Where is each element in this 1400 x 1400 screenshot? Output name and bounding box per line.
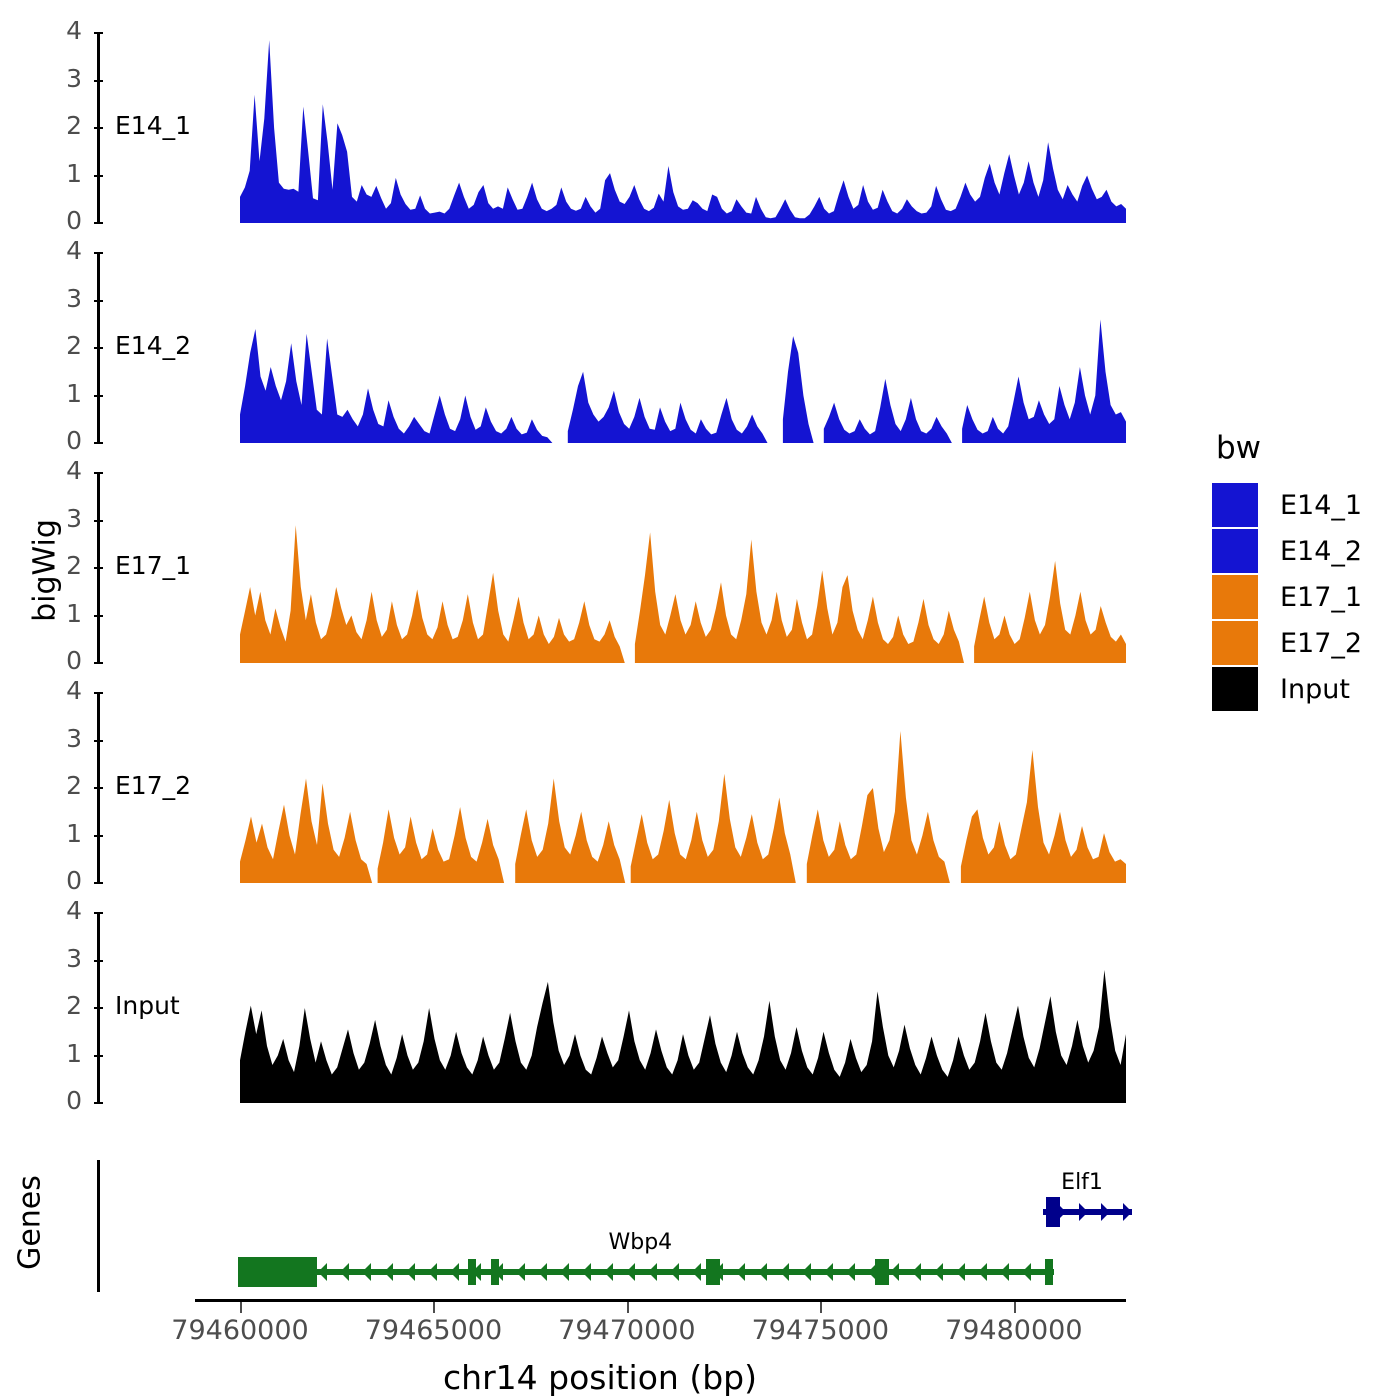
x-tick-label: 79480000 [914, 1315, 1114, 1346]
x-tick [627, 1302, 629, 1313]
track-label-e14_2: E14_2 [115, 331, 191, 360]
y-tick-label: 4 [22, 16, 82, 45]
strand-arrow-icon [824, 1263, 833, 1281]
genes-group-label: Genes [13, 1133, 48, 1313]
strand-arrow-icon [516, 1263, 525, 1281]
legend-label: E14_2 [1280, 536, 1362, 567]
gene-exon-wbp4[interactable] [238, 1257, 317, 1287]
y-tick [94, 80, 103, 82]
y-tick-label: 1 [22, 599, 82, 628]
y-tick [94, 472, 103, 474]
legend-swatch [1212, 529, 1258, 573]
y-tick [94, 347, 103, 349]
legend-swatch [1212, 483, 1258, 527]
y-tick [94, 662, 103, 664]
legend-item-e17_2[interactable]: E17_2 [1212, 620, 1362, 666]
gene-body-wbp4[interactable] [238, 1269, 1054, 1275]
y-tick [94, 1007, 103, 1009]
track-label-e17_2: E17_2 [115, 771, 191, 800]
genes-track-panel: Elf1Wbp4 [97, 1160, 1166, 1292]
track-panel-input: 01234Input [97, 913, 1166, 1103]
x-axis-title: chr14 position (bp) [0, 1358, 1200, 1397]
legend-item-e14_2[interactable]: E14_2 [1212, 528, 1362, 574]
strand-arrow-icon [1123, 1203, 1132, 1221]
track-panel-e17_1: 01234E17_1 [97, 473, 1166, 663]
strand-arrow-icon [1000, 1263, 1009, 1281]
strand-arrow-icon [626, 1263, 635, 1281]
strand-arrow-icon [934, 1263, 943, 1281]
waveform-e17_2 [240, 693, 1126, 883]
x-tick-label: 79470000 [527, 1315, 727, 1346]
y-tick [94, 300, 103, 302]
y-tick [94, 912, 103, 914]
strand-arrow-icon [1101, 1203, 1110, 1221]
strand-arrow-icon [912, 1263, 921, 1281]
y-tick-label: 2 [22, 991, 82, 1020]
y-tick [94, 175, 103, 177]
track-panel-e17_2: 01234E17_2 [97, 693, 1166, 883]
y-tick-label: 4 [22, 896, 82, 925]
y-tick [94, 32, 103, 34]
strand-arrow-icon [428, 1263, 437, 1281]
y-tick [94, 127, 103, 129]
strand-arrow-icon [758, 1263, 767, 1281]
legend-swatch [1212, 621, 1258, 665]
legend-item-e14_1[interactable]: E14_1 [1212, 482, 1362, 528]
y-tick-label: 4 [22, 456, 82, 485]
gene-label-elf1: Elf1 [1061, 1170, 1103, 1195]
waveform-e14_2 [240, 253, 1126, 443]
legend-label: E17_2 [1280, 628, 1362, 659]
y-tick [94, 740, 103, 742]
y-tick [94, 882, 103, 884]
legend-items: E14_1E14_2E17_1E17_2Input [1212, 482, 1362, 712]
x-tick [240, 1302, 242, 1313]
strand-arrow-icon [560, 1263, 569, 1281]
strand-arrow-icon [318, 1263, 327, 1281]
legend-label: E17_1 [1280, 582, 1362, 613]
track-label-e14_1: E14_1 [115, 111, 191, 140]
x-tick-label: 79475000 [720, 1315, 920, 1346]
y-tick-label: 2 [22, 551, 82, 580]
y-tick [94, 567, 103, 569]
gene-label-wbp4: Wbp4 [609, 1230, 673, 1255]
y-tick-label: 4 [22, 676, 82, 705]
strand-arrow-icon [890, 1263, 899, 1281]
y-tick [94, 395, 103, 397]
y-tick-label: 1 [22, 1039, 82, 1068]
gene-exon-wbp4[interactable] [712, 1259, 720, 1285]
strand-arrow-icon [670, 1263, 679, 1281]
y-tick [94, 1102, 103, 1104]
strand-arrow-icon [1079, 1203, 1088, 1221]
strand-arrow-icon [384, 1263, 393, 1281]
y-tick-label: 3 [22, 284, 82, 313]
legend: bw E14_1E14_2E17_1E17_2Input [1212, 430, 1362, 712]
strand-arrow-icon [736, 1263, 745, 1281]
strand-arrow-icon [1022, 1263, 1031, 1281]
y-tick-label: 1 [22, 819, 82, 848]
strand-arrow-icon [978, 1263, 987, 1281]
y-tick-label: 3 [22, 504, 82, 533]
y-tick [94, 835, 103, 837]
x-tick [1014, 1302, 1016, 1313]
strand-arrow-icon [450, 1263, 459, 1281]
legend-title: bw [1216, 430, 1362, 466]
legend-label: E14_1 [1280, 490, 1362, 521]
strand-arrow-icon [362, 1263, 371, 1281]
legend-swatch [1212, 667, 1258, 711]
y-tick [94, 442, 103, 444]
track-panel-e14_1: 01234E14_1 [97, 33, 1166, 223]
y-tick [94, 692, 103, 694]
strand-arrow-icon [340, 1263, 349, 1281]
legend-label: Input [1280, 674, 1350, 705]
y-tick-label: 1 [22, 159, 82, 188]
y-tick [94, 222, 103, 224]
waveform-input [240, 913, 1126, 1103]
genome-browser-figure: bigWig Genes 01234E14_101234E14_201234E1… [0, 0, 1400, 1400]
genes-axis-line [97, 1160, 100, 1292]
y-tick-label: 0 [22, 1086, 82, 1115]
track-label-input: Input [115, 991, 180, 1020]
y-tick [94, 787, 103, 789]
y-tick-label: 3 [22, 64, 82, 93]
track-label-e17_1: E17_1 [115, 551, 191, 580]
x-axis-line [195, 1299, 1126, 1302]
strand-arrow-icon [692, 1263, 701, 1281]
y-tick-label: 3 [22, 724, 82, 753]
y-tick [94, 615, 103, 617]
y-tick-label: 2 [22, 771, 82, 800]
y-tick [94, 520, 103, 522]
y-tick [94, 252, 103, 254]
y-tick-label: 2 [22, 331, 82, 360]
strand-arrow-icon [582, 1263, 591, 1281]
gene-exon-wbp4[interactable] [468, 1259, 476, 1285]
legend-item-input[interactable]: Input [1212, 666, 1362, 712]
y-tick [94, 1055, 103, 1057]
strand-arrow-icon [648, 1263, 657, 1281]
y-tick-label: 0 [22, 646, 82, 675]
y-tick-label: 0 [22, 206, 82, 235]
strand-arrow-icon [538, 1263, 547, 1281]
gene-exon-wbp4[interactable] [491, 1259, 499, 1285]
track-panel-e14_2: 01234E14_2 [97, 253, 1166, 443]
x-tick [433, 1302, 435, 1313]
y-tick-label: 3 [22, 944, 82, 973]
y-tick-label: 2 [22, 111, 82, 140]
strand-arrow-icon [956, 1263, 965, 1281]
y-tick [94, 960, 103, 962]
gene-exon-elf1[interactable] [1046, 1197, 1060, 1227]
x-tick [820, 1302, 822, 1313]
strand-arrow-icon [604, 1263, 613, 1281]
strand-arrow-icon [780, 1263, 789, 1281]
legend-item-e17_1[interactable]: E17_1 [1212, 574, 1362, 620]
strand-arrow-icon [846, 1263, 855, 1281]
y-tick-label: 0 [22, 426, 82, 455]
y-tick-label: 1 [22, 379, 82, 408]
y-tick-label: 4 [22, 236, 82, 265]
strand-arrow-icon [802, 1263, 811, 1281]
waveform-e17_1 [240, 473, 1126, 663]
x-tick-label: 79460000 [140, 1315, 340, 1346]
gene-exon-wbp4[interactable] [881, 1259, 889, 1285]
gene-exon-wbp4[interactable] [1045, 1259, 1053, 1285]
strand-arrow-icon [406, 1263, 415, 1281]
y-tick-label: 0 [22, 866, 82, 895]
waveform-e14_1 [240, 33, 1126, 223]
x-tick-label: 79465000 [333, 1315, 533, 1346]
legend-swatch [1212, 575, 1258, 619]
